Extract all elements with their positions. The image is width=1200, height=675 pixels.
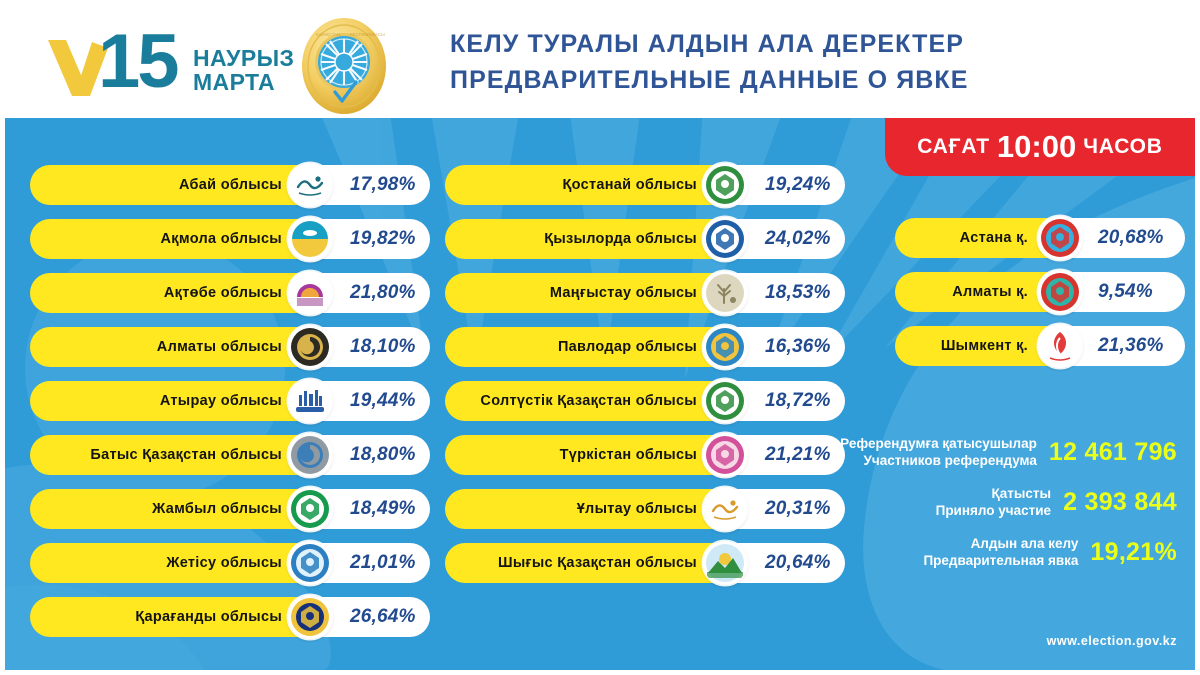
turnout-percentage: 20,68%	[1098, 227, 1164, 249]
table-row[interactable]: Батыс Қазақстан облысы18,80%	[30, 435, 430, 475]
turnout-percentage: 26,64%	[350, 606, 416, 628]
region-name-pill: Ақтөбе облысы	[30, 273, 312, 313]
table-row[interactable]: Атырау облысы19,44%	[30, 381, 430, 421]
table-row[interactable]: Ұлытау облысы20,31%	[445, 489, 845, 529]
east-kazakhstan-region-emblem-icon	[703, 541, 747, 585]
svg-text:РЕСПУБЛИКАСЫ: РЕСПУБЛИКАСЫ	[350, 32, 385, 37]
svg-text:ҚАЗАҚСТАН: ҚАЗАҚСТАН	[316, 32, 340, 37]
turnout-percentage: 18,72%	[765, 390, 831, 412]
time-badge: САҒАТ 10:00 ЧАСОВ	[885, 118, 1195, 176]
summary-label-kk: Қатысты	[936, 485, 1051, 502]
region-label: Маңғыстау облысы	[550, 285, 697, 301]
region-name-pill: Батыс Қазақстан облысы	[30, 435, 312, 475]
atyrau-region-emblem-icon	[288, 379, 332, 423]
election-date-logo: 15 НАУРЫЗ МАРТА	[46, 26, 278, 100]
header-bar: 15 НАУРЫЗ МАРТА	[0, 0, 1200, 118]
turkistan-region-emblem-icon	[703, 433, 747, 477]
table-row[interactable]: Астана қ.20,68%	[895, 218, 1185, 258]
region-label: Павлодар облысы	[558, 339, 697, 355]
region-column-2: Қостанай облысы19,24%Қызылорда облысы24,…	[445, 165, 845, 597]
karaganda-region-emblem-icon	[288, 595, 332, 639]
summary-label-ru: Участников референдума	[840, 452, 1037, 469]
turnout-percentage: 9,54%	[1098, 281, 1153, 303]
table-row[interactable]: Павлодар облысы16,36%	[445, 327, 845, 367]
ulytau-region-emblem-icon	[703, 487, 747, 531]
region-name-pill: Ұлытау облысы	[445, 489, 727, 529]
region-name-pill: Қарағанды облысы	[30, 597, 312, 637]
region-name-pill: Астана қ.	[895, 218, 1060, 258]
shymkent-city-emblem-icon	[1038, 324, 1082, 368]
summary-label-ru: Предварительная явка	[923, 552, 1078, 569]
kostanay-region-emblem-icon	[703, 163, 747, 207]
astana-city-emblem-icon	[1038, 216, 1082, 260]
region-name-pill: Абай облысы	[30, 165, 312, 205]
region-name-pill: Алматы облысы	[30, 327, 312, 367]
time-label-kk: САҒАТ	[917, 135, 990, 159]
region-label: Атырау облысы	[160, 393, 282, 409]
summary-value: 19,21%	[1090, 538, 1177, 567]
region-label: Ұлытау облысы	[577, 501, 697, 517]
summary-label-ru: Приняло участие	[936, 502, 1051, 519]
north-kazakhstan-region-emblem-icon	[703, 379, 747, 423]
region-label: Солтүстік Қазақстан облысы	[480, 393, 697, 409]
kyzylorda-region-emblem-icon	[703, 217, 747, 261]
region-label: Шығыс Қазақстан облысы	[498, 555, 697, 571]
region-label: Жамбыл облысы	[152, 501, 282, 517]
abai-region-emblem-icon	[288, 163, 332, 207]
table-row[interactable]: Қарағанды облысы26,64%	[30, 597, 430, 637]
infographic-poster: 15 НАУРЫЗ МАРТА	[0, 0, 1200, 675]
page-title: КЕЛУ ТУРАЛЫ АЛДЫН АЛА ДЕРЕКТЕР ПРЕДВАРИТ…	[450, 26, 1050, 98]
turnout-percentage: 19,24%	[765, 174, 831, 196]
logo-day: 15	[98, 24, 177, 100]
summary-panel: Референдумға қатысушыларУчастников рефер…	[817, 435, 1177, 585]
mangystau-region-emblem-icon	[703, 271, 747, 315]
region-name-pill: Қызылорда облысы	[445, 219, 727, 259]
summary-value: 2 393 844	[1063, 488, 1177, 517]
region-name-pill: Қостанай облысы	[445, 165, 727, 205]
region-label: Алматы қ.	[952, 284, 1028, 300]
region-label: Жетісу облысы	[166, 555, 282, 571]
pavlodar-region-emblem-icon	[703, 325, 747, 369]
summary-labels: Алдын ала келуПредварительная явка	[923, 535, 1078, 569]
region-label: Қарағанды облысы	[135, 609, 282, 625]
summary-label-kk: Референдумға қатысушылар	[840, 435, 1037, 452]
region-name-pill: Павлодар облысы	[445, 327, 727, 367]
region-label: Батыс Қазақстан облысы	[90, 447, 282, 463]
summary-stat-row: Алдын ала келуПредварительная явка19,21%	[817, 535, 1177, 569]
table-row[interactable]: Шығыс Қазақстан облысы20,64%	[445, 543, 845, 583]
title-russian: ПРЕДВАРИТЕЛЬНЫЕ ДАННЫЕ О ЯВКЕ	[450, 62, 1050, 98]
turnout-percentage: 18,53%	[765, 282, 831, 304]
summary-label-kk: Алдын ала келу	[923, 535, 1078, 552]
summary-stat-row: Референдумға қатысушыларУчастников рефер…	[817, 435, 1177, 469]
table-row[interactable]: Маңғыстау облысы18,53%	[445, 273, 845, 313]
turnout-percentage: 18,49%	[350, 498, 416, 520]
turnout-percentage: 19,44%	[350, 390, 416, 412]
table-row[interactable]: Алматы қ.9,54%	[895, 272, 1185, 312]
time-label-ru: ЧАСОВ	[1083, 135, 1163, 159]
west-kazakhstan-region-emblem-icon	[288, 433, 332, 477]
region-name-pill: Алматы қ.	[895, 272, 1060, 312]
table-row[interactable]: Түркістан облысы21,21%	[445, 435, 845, 475]
table-row[interactable]: Солтүстік Қазақстан облысы18,72%	[445, 381, 845, 421]
region-label: Қызылорда облысы	[544, 231, 697, 247]
logo-month-ru: МАРТА	[193, 71, 275, 94]
main-panel: САҒАТ 10:00 ЧАСОВ Абай облысы17,98%Ақмол…	[5, 118, 1195, 670]
turnout-percentage: 18,80%	[350, 444, 416, 466]
table-row[interactable]: Абай облысы17,98%	[30, 165, 430, 205]
logo-month-kk: НАУРЫЗ	[193, 47, 294, 70]
summary-labels: Референдумға қатысушыларУчастников рефер…	[840, 435, 1037, 469]
region-label: Алматы облысы	[157, 339, 282, 355]
almaty-region-emblem-icon	[288, 325, 332, 369]
table-row[interactable]: Ақмола облысы19,82%	[30, 219, 430, 259]
region-name-pill: Жамбыл облысы	[30, 489, 312, 529]
turnout-percentage: 18,10%	[350, 336, 416, 358]
region-label: Түркістан облысы	[560, 447, 697, 463]
time-value: 10:00	[997, 129, 1076, 165]
aqtobe-region-emblem-icon	[288, 271, 332, 315]
turnout-percentage: 17,98%	[350, 174, 416, 196]
table-row[interactable]: Жетісу облысы21,01%	[30, 543, 430, 583]
region-label: Абай облысы	[179, 177, 282, 193]
region-name-pill: Шымкент қ.	[895, 326, 1060, 366]
turnout-percentage: 19,82%	[350, 228, 416, 250]
region-label: Ақмола облысы	[161, 231, 282, 247]
summary-labels: ҚатыстыПриняло участие	[936, 485, 1051, 519]
turnout-percentage: 21,01%	[350, 552, 416, 574]
region-label: Ақтөбе облысы	[164, 285, 282, 301]
turnout-percentage: 24,02%	[765, 228, 831, 250]
table-row[interactable]: Шымкент қ.21,36%	[895, 326, 1185, 366]
region-label: Қостанай облысы	[562, 177, 697, 193]
region-column-1: Абай облысы17,98%Ақмола облысы19,82%Ақтө…	[30, 165, 430, 651]
turnout-percentage: 16,36%	[765, 336, 831, 358]
title-kazakh: КЕЛУ ТУРАЛЫ АЛДЫН АЛА ДЕРЕКТЕР	[450, 26, 1050, 62]
cec-seal-icon: ҚАЗАҚСТАН РЕСПУБЛИКАСЫ	[292, 16, 396, 116]
zhetysu-region-emblem-icon	[288, 541, 332, 585]
table-row[interactable]: Ақтөбе облысы21,80%	[30, 273, 430, 313]
table-row[interactable]: Алматы облысы18,10%	[30, 327, 430, 367]
summary-value: 12 461 796	[1049, 438, 1177, 467]
almaty-city-emblem-icon	[1038, 270, 1082, 314]
region-label: Шымкент қ.	[941, 338, 1028, 354]
turnout-percentage: 21,36%	[1098, 335, 1164, 357]
region-label: Астана қ.	[960, 230, 1028, 246]
region-name-pill: Маңғыстау облысы	[445, 273, 727, 313]
aqmola-region-emblem-icon	[288, 217, 332, 261]
region-name-pill: Ақмола облысы	[30, 219, 312, 259]
website-url: www.election.gov.kz	[1047, 634, 1177, 648]
zhambyl-region-emblem-icon	[288, 487, 332, 531]
turnout-percentage: 21,80%	[350, 282, 416, 304]
region-name-pill: Атырау облысы	[30, 381, 312, 421]
table-row[interactable]: Жамбыл облысы18,49%	[30, 489, 430, 529]
region-name-pill: Шығыс Қазақстан облысы	[445, 543, 727, 583]
region-name-pill: Түркістан облысы	[445, 435, 727, 475]
region-name-pill: Жетісу облысы	[30, 543, 312, 583]
table-row[interactable]: Қызылорда облысы24,02%	[445, 219, 845, 259]
table-row[interactable]: Қостанай облысы19,24%	[445, 165, 845, 205]
city-column-3: Астана қ.20,68%Алматы қ.9,54%Шымкент қ.2…	[895, 218, 1185, 380]
region-name-pill: Солтүстік Қазақстан облысы	[445, 381, 727, 421]
summary-stat-row: ҚатыстыПриняло участие2 393 844	[817, 485, 1177, 519]
